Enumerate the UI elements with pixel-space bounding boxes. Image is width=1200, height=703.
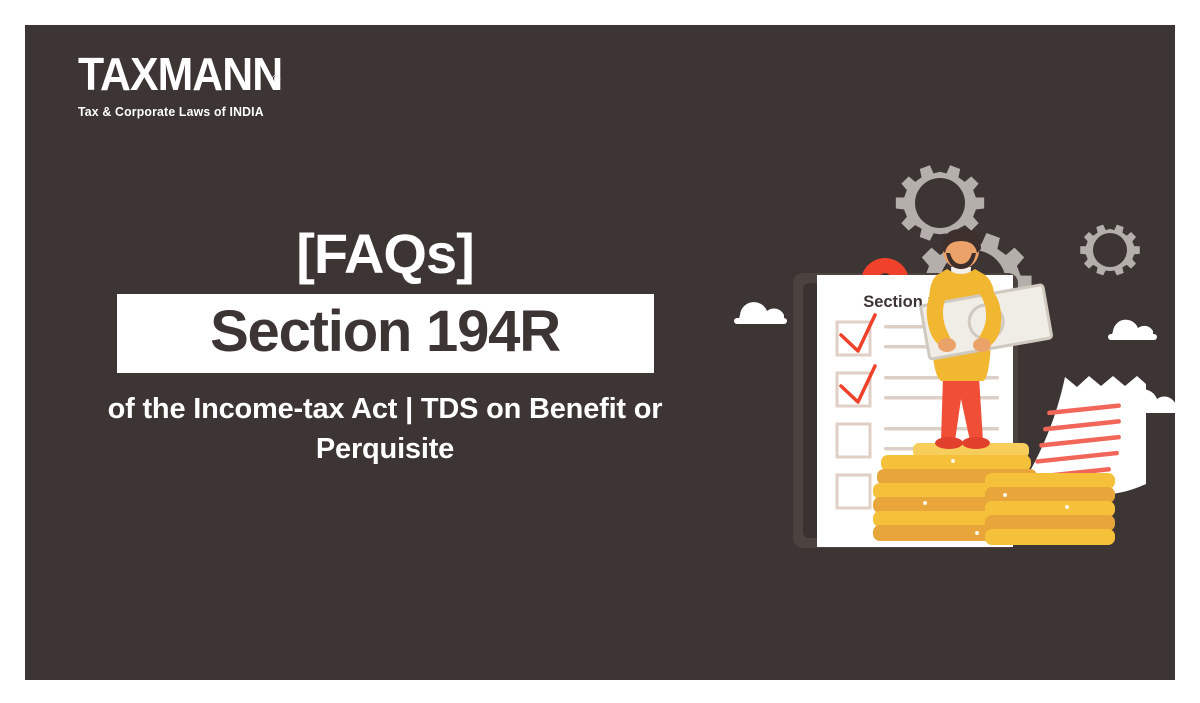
headline-kicker: [FAQs]	[25, 225, 745, 284]
cloud-right-top-icon	[1108, 320, 1157, 340]
promo-banner: TAXMANN ® Tax & Corporate Laws of INDIA …	[25, 25, 1175, 680]
logo-wordmark-text: TAXMANN	[78, 48, 282, 100]
gear-small-icon	[1080, 225, 1140, 276]
page-title: Section 194R	[141, 301, 630, 362]
cloud-left-icon	[734, 302, 787, 324]
headline-subtitle: of the Income-tax Act | TDS on Benefit o…	[25, 389, 745, 469]
logo-wordmark: TAXMANN ®	[78, 51, 320, 97]
headline-title-band: Section 194R	[117, 294, 654, 373]
registered-trademark-icon: ®	[271, 73, 279, 86]
illustration: Section 194R	[685, 155, 1175, 575]
logo-tagline: Tax & Corporate Laws of INDIA	[78, 105, 333, 119]
taxmann-logo: TAXMANN ® Tax & Corporate Laws of INDIA	[78, 51, 338, 119]
headline-block: [FAQs] Section 194R of the Income-tax Ac…	[25, 225, 745, 469]
gear-medium-icon	[896, 165, 984, 240]
